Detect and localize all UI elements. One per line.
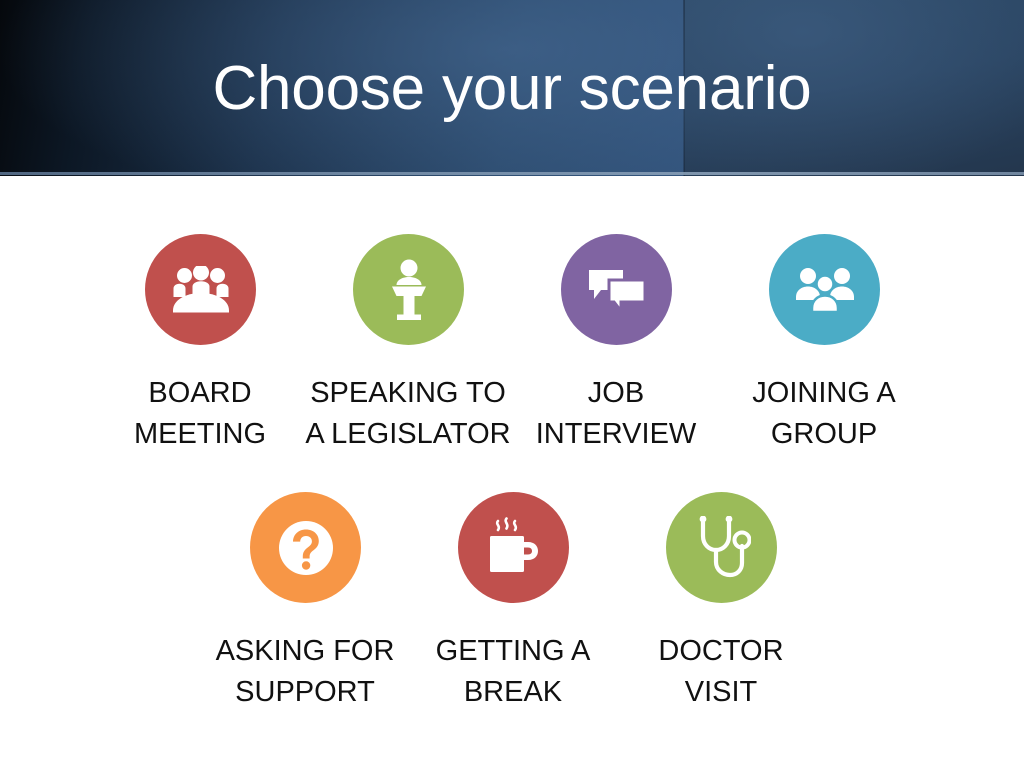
scenario-label: GETTING A BREAK xyxy=(413,631,613,713)
scenario-icon-circle[interactable] xyxy=(145,234,256,345)
page-title: Choose your scenario xyxy=(0,58,1024,120)
group-at-table-icon xyxy=(170,266,232,314)
stethoscope-icon xyxy=(693,516,751,580)
scenario-icon-circle[interactable] xyxy=(561,234,672,345)
three-people-icon xyxy=(794,266,856,314)
question-mark-icon xyxy=(275,517,337,579)
coffee-mug-icon xyxy=(485,517,543,579)
speech-bubbles-icon xyxy=(587,266,647,314)
slide-header: Choose your scenario xyxy=(0,0,1024,176)
scenario-icon-circle[interactable] xyxy=(458,492,569,603)
scenario-icon-circle[interactable] xyxy=(353,234,464,345)
scenario-icon-circle[interactable] xyxy=(769,234,880,345)
scenario-label: JOINING A GROUP xyxy=(724,373,924,455)
scenario-label: DOCTOR VISIT xyxy=(621,631,821,713)
scenario-label: BOARD MEETING xyxy=(100,373,300,455)
scenario-label: SPEAKING TO A LEGISLATOR xyxy=(298,373,518,455)
slide: Choose your scenario BOARD MEETING xyxy=(0,0,1024,766)
speaker-at-podium-icon xyxy=(385,259,433,321)
scenario-icon-circle[interactable] xyxy=(666,492,777,603)
scenario-icon-circle[interactable] xyxy=(250,492,361,603)
header-underline xyxy=(0,172,1024,175)
scenario-label: JOB INTERVIEW xyxy=(516,373,716,455)
scenario-label: ASKING FOR SUPPORT xyxy=(205,631,405,713)
